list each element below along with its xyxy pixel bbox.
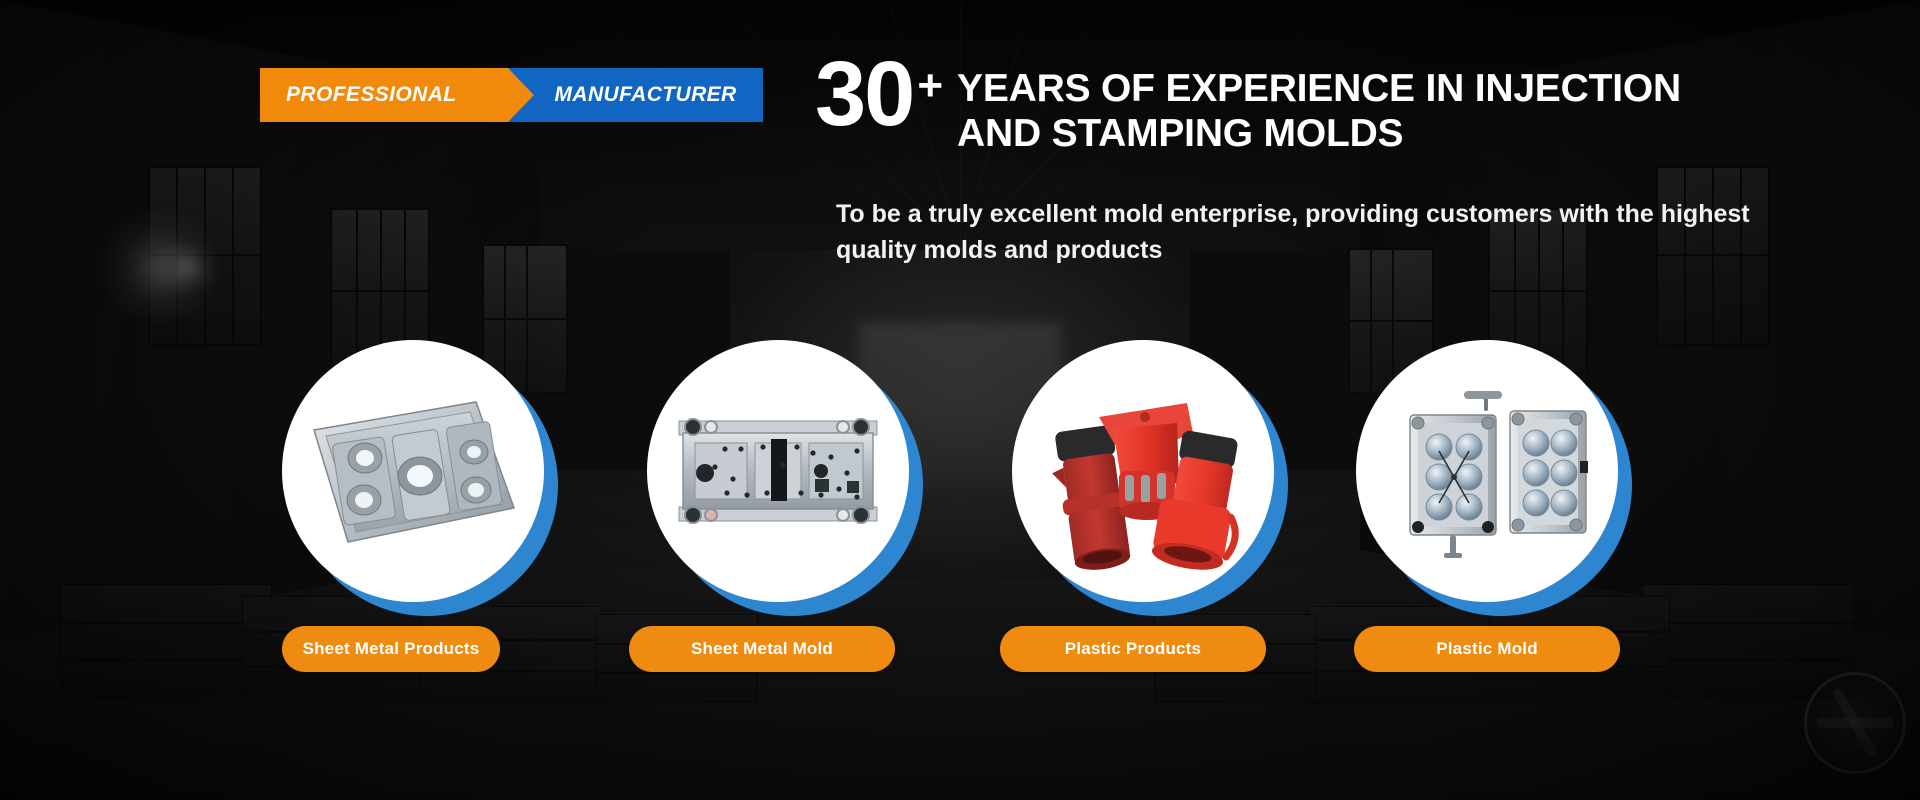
product-circle[interactable] xyxy=(647,340,909,602)
badge-manufacturer-label: MANUFACTURER xyxy=(554,83,736,107)
headline-block: 30 + YEARS OF EXPERIENCE IN INJECTION AN… xyxy=(815,52,1825,156)
product-card[interactable]: Plastic Mold xyxy=(1356,340,1626,602)
badge-professional-label: PROFESSIONAL xyxy=(286,83,456,107)
product-card[interactable]: Sheet Metal Mold xyxy=(647,340,917,602)
product-image-plastic-mold xyxy=(1356,340,1618,602)
badge-left-segment: PROFESSIONAL xyxy=(260,68,508,122)
product-button-label: Sheet Metal Products xyxy=(303,639,480,659)
product-circle[interactable] xyxy=(1356,340,1618,602)
subtitle-text: To be a truly excellent mold enterprise,… xyxy=(836,196,1796,269)
product-button-label: Plastic Products xyxy=(1065,639,1201,659)
product-button-plastic-mold[interactable]: Plastic Mold xyxy=(1354,626,1620,672)
product-image-plastic-products xyxy=(1012,340,1274,602)
product-button-plastic-products[interactable]: Plastic Products xyxy=(1000,626,1266,672)
product-button-label: Sheet Metal Mold xyxy=(691,639,833,659)
product-button-sheet-metal-mold[interactable]: Sheet Metal Mold xyxy=(629,626,895,672)
window-light-glow xyxy=(152,242,222,292)
product-image-sheet-metal-mold xyxy=(647,340,909,602)
badge-right-segment: MANUFACTURER xyxy=(508,68,762,122)
product-button-sheet-metal-products[interactable]: Sheet Metal Products xyxy=(282,626,500,672)
product-circle[interactable] xyxy=(1012,340,1274,602)
headline-line-1: YEARS OF EXPERIENCE IN INJECTION xyxy=(957,66,1681,111)
product-circle[interactable] xyxy=(282,340,544,602)
professional-manufacturer-badge: PROFESSIONAL MANUFACTURER xyxy=(260,68,763,122)
product-button-label: Plastic Mold xyxy=(1436,639,1538,659)
product-card-row: Sheet Metal Products xyxy=(0,340,1920,760)
product-card[interactable]: Plastic Products xyxy=(1012,340,1282,602)
product-card[interactable]: Sheet Metal Products xyxy=(282,340,552,602)
product-image-sheet-metal-products xyxy=(282,340,544,602)
hero-banner: PROFESSIONAL MANUFACTURER 30 + YEARS OF … xyxy=(0,0,1920,800)
years-number: 30 xyxy=(815,52,913,137)
years-plus-sign: + xyxy=(917,64,943,108)
headline-text: YEARS OF EXPERIENCE IN INJECTION AND STA… xyxy=(957,52,1681,156)
headline-line-2: AND STAMPING MOLDS xyxy=(957,111,1681,156)
